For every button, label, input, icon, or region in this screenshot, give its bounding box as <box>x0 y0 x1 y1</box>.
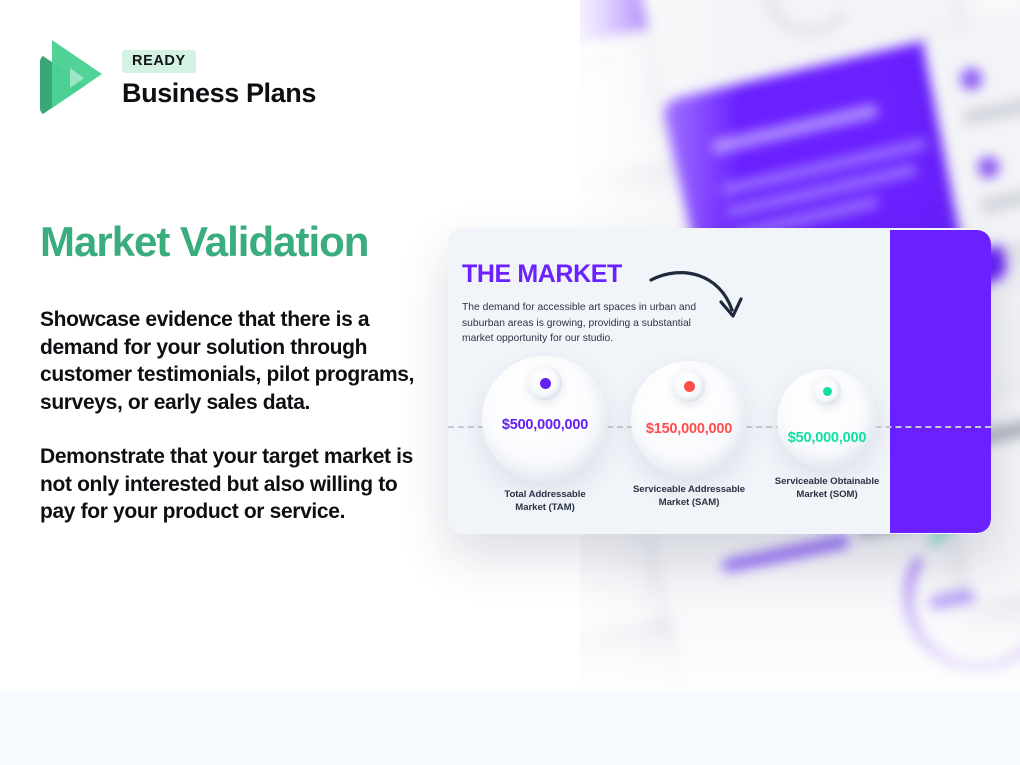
market-amount: $150,000,000 <box>631 421 747 437</box>
brand-logo: READY Business Plans <box>40 40 316 118</box>
brand-text: READY Business Plans <box>122 50 316 109</box>
play-triangle-logo-icon <box>40 40 106 118</box>
market-bubble: $150,000,000 <box>631 361 747 477</box>
market-item-som[interactable]: $50,000,000 Serviceable Obtainable Marke… <box>742 356 912 501</box>
market-label-line2: Market (SAM) <box>659 497 720 508</box>
market-knob <box>528 366 562 400</box>
ready-badge: READY <box>122 50 196 73</box>
market-bubble: $500,000,000 <box>482 356 608 482</box>
market-label-line1: Serviceable Obtainable <box>775 476 879 487</box>
market-knob <box>813 377 841 405</box>
market-label-line1: Total Addressable <box>504 489 585 500</box>
market-label-line2: Market (SOM) <box>796 489 857 500</box>
page-title: Market Validation <box>40 218 368 266</box>
market-label-line2: Market (TAM) <box>515 502 574 513</box>
green-dot-icon <box>823 387 832 396</box>
market-knob <box>673 370 705 402</box>
curved-arrow-icon <box>648 266 746 328</box>
body-paragraph-1: Showcase evidence that there is a demand… <box>40 306 415 416</box>
card-title: THE MARKET <box>462 260 622 289</box>
logo-inner-triangle-icon <box>70 68 84 88</box>
market-slide-card[interactable]: THE MARKET The demand for accessible art… <box>448 228 991 534</box>
purple-dot-icon <box>540 378 551 389</box>
market-bubble: $50,000,000 <box>777 369 877 469</box>
market-circles-row: $500,000,000 Total Addressable Market (T… <box>448 356 889 516</box>
market-amount: $500,000,000 <box>482 417 608 433</box>
slide-canvas: READY Business Plans Market Validation S… <box>0 0 1020 765</box>
market-amount: $50,000,000 <box>777 430 877 446</box>
body-paragraph-2: Demonstrate that your target market is n… <box>40 443 415 526</box>
brand-name: Business Plans <box>122 78 316 109</box>
market-label: Serviceable Obtainable Market (SOM) <box>742 475 912 501</box>
market-label-line1: Serviceable Addressable <box>633 484 745 495</box>
body-copy: Showcase evidence that there is a demand… <box>40 306 415 526</box>
red-dot-icon <box>684 381 695 392</box>
bottom-strip <box>0 691 1020 765</box>
